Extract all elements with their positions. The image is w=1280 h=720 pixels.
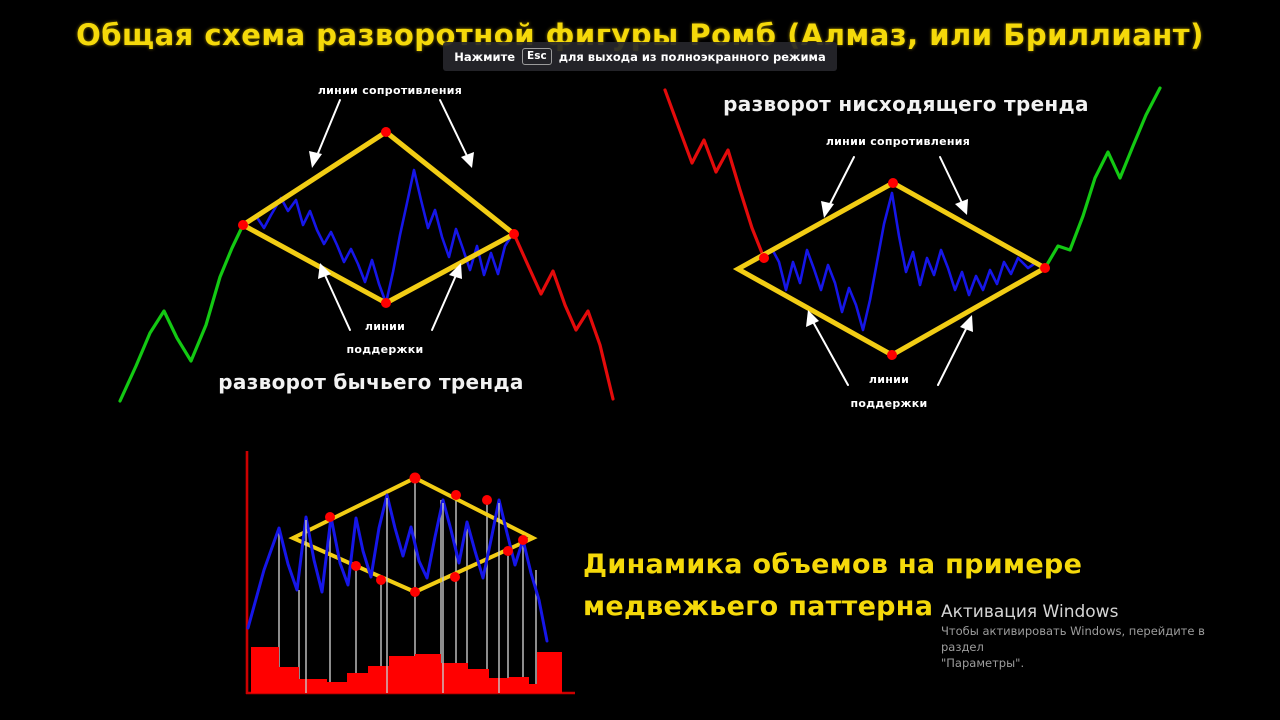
resistance-label: линии сопротивления bbox=[826, 135, 970, 148]
volume-bar bbox=[441, 663, 468, 693]
pattern-dot bbox=[325, 512, 335, 522]
slide-canvas: Общая схема разворотной фигуры Ромб (Алм… bbox=[0, 0, 1280, 720]
resistance-arrow-right-head bbox=[461, 152, 474, 168]
support-label-line1: линии bbox=[365, 320, 405, 333]
volume-bar bbox=[389, 656, 415, 693]
diamond-shape bbox=[738, 183, 1045, 355]
volume-bar bbox=[279, 667, 299, 693]
diagram-bullish-reversal: линии сопротивления линии поддержки разв… bbox=[120, 84, 613, 401]
price-zigzag-line bbox=[248, 495, 547, 641]
resistance-label: линии сопротивления bbox=[318, 84, 462, 97]
vertex-dot bbox=[381, 127, 391, 137]
vertex-dot bbox=[888, 178, 898, 188]
watermark-title: Активация Windows bbox=[941, 601, 1241, 623]
diagram-caption: разворот бычьего тренда bbox=[218, 370, 523, 394]
windows-activation-watermark: Активация Windows Чтобы активировать Win… bbox=[941, 601, 1241, 671]
volume-bar bbox=[529, 684, 537, 693]
price-zigzag-line bbox=[243, 170, 512, 303]
volume-bars bbox=[251, 647, 562, 693]
downtrend-red-line bbox=[514, 234, 613, 399]
resistance-arrow-right bbox=[440, 100, 468, 158]
support-arrow-right bbox=[938, 325, 968, 385]
vertex-dot bbox=[887, 350, 897, 360]
volume-caption-line1: Динамика объемов на примере bbox=[583, 549, 1082, 580]
volume-bar bbox=[368, 666, 389, 693]
fullscreen-exit-toast: Нажмите Esc для выхода из полноэкранного… bbox=[443, 42, 837, 71]
support-arrow-right bbox=[432, 273, 457, 330]
resistance-arrow-left bbox=[316, 100, 340, 158]
vertex-dot bbox=[381, 298, 391, 308]
volume-bar bbox=[415, 654, 441, 693]
resistance-arrow-right bbox=[940, 157, 963, 205]
vertex-dot bbox=[759, 253, 769, 263]
volume-bar bbox=[327, 682, 347, 693]
vertex-dot bbox=[1040, 263, 1050, 273]
resistance-arrow-left bbox=[828, 157, 854, 208]
watermark-line2: "Параметры". bbox=[941, 655, 1241, 671]
vertex-dot bbox=[238, 220, 248, 230]
volume-caption-line2: медвежьего паттерна bbox=[583, 591, 933, 622]
diagram-caption: разворот нисходящего тренда bbox=[723, 92, 1089, 116]
support-label-line1: линии bbox=[869, 373, 909, 386]
diamond-shape bbox=[243, 132, 514, 303]
pattern-dot bbox=[482, 495, 492, 505]
toast-suffix-text: для выхода из полноэкранного режима bbox=[559, 50, 826, 64]
volume-bar bbox=[299, 679, 327, 693]
support-label-line2: поддержки bbox=[346, 343, 423, 356]
toast-prefix-text: Нажмите bbox=[454, 50, 515, 64]
pattern-dot bbox=[410, 473, 421, 484]
pattern-dot bbox=[518, 535, 528, 545]
pattern-dot bbox=[451, 490, 461, 500]
resistance-arrow-left-head bbox=[309, 151, 322, 168]
esc-key-badge: Esc bbox=[522, 48, 552, 65]
volume-bar bbox=[537, 652, 562, 693]
volume-bar bbox=[347, 673, 368, 693]
pattern-dot bbox=[503, 546, 513, 556]
pattern-dot bbox=[351, 561, 361, 571]
volume-bar bbox=[251, 647, 279, 693]
pattern-dot bbox=[376, 575, 386, 585]
volume-bar bbox=[509, 677, 529, 693]
watermark-line1: Чтобы активировать Windows, перейдите в … bbox=[941, 623, 1241, 655]
diagram-bearish-reversal: разворот нисходящего тренда линии сопрот… bbox=[665, 88, 1160, 410]
pattern-dot bbox=[450, 572, 460, 582]
volume-bar bbox=[468, 669, 489, 693]
vertex-dot bbox=[509, 229, 519, 239]
pattern-dot bbox=[410, 587, 420, 597]
support-label-line2: поддержки bbox=[850, 397, 927, 410]
